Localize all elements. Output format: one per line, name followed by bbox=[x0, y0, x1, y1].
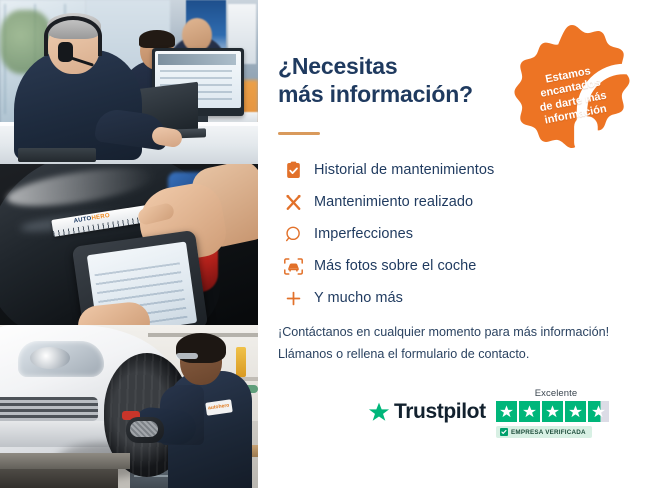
feature-label: Historial de mantenimientos bbox=[308, 163, 494, 178]
star-rating bbox=[496, 401, 616, 422]
photo-strip: AUTOHERO autohero bbox=[0, 0, 258, 488]
page-title: ¿Necesitas más información? bbox=[278, 52, 528, 109]
clipboard-check-icon bbox=[278, 157, 308, 183]
feature-label: Más fotos sobre el coche bbox=[308, 259, 476, 274]
trustpilot-wordmark: Trustpilot bbox=[394, 400, 486, 424]
check-icon bbox=[500, 428, 508, 436]
promo-card: AUTOHERO autohero bbox=[0, 0, 650, 488]
star-filled bbox=[519, 401, 540, 422]
trustpilot-rating: Excelente bbox=[496, 388, 616, 440]
feature-item-more-photos: Más fotos sobre el coche bbox=[278, 250, 638, 282]
star-filled bbox=[496, 401, 517, 422]
title-accent-rule bbox=[278, 132, 320, 135]
page-title-line-2: más información? bbox=[278, 80, 528, 108]
star-filled bbox=[565, 401, 586, 422]
help-badge: Estamos encantados de darte más informac… bbox=[509, 22, 635, 148]
verified-business-label: EMPRESA VERIFICADA bbox=[511, 429, 586, 436]
trustpilot-star-icon bbox=[368, 401, 390, 423]
feature-item-much-more: Y mucho más bbox=[278, 282, 638, 314]
feature-item-imperfections: Imperfecciones bbox=[278, 218, 638, 250]
car-scan-icon bbox=[278, 253, 308, 279]
magnifier-icon bbox=[278, 221, 308, 247]
star-filled bbox=[542, 401, 563, 422]
tools-cross-icon bbox=[278, 189, 308, 215]
feature-list: Historial de mantenimientos Mantenimient… bbox=[278, 154, 638, 314]
mechanic-wheel-inspection-photo: autohero bbox=[0, 325, 258, 488]
star-partial bbox=[588, 401, 609, 422]
contact-paragraph: ¡Contáctanos en cualquier momento para m… bbox=[278, 322, 633, 365]
contact-paragraph-line-1: ¡Contáctanos en cualquier momento para m… bbox=[278, 322, 633, 344]
call-center-agents-photo bbox=[0, 0, 258, 164]
contact-paragraph-line-2: Llámanos o rellena el formulario de cont… bbox=[278, 344, 633, 366]
feature-item-maintenance-done: Mantenimiento realizado bbox=[278, 186, 638, 218]
rating-label: Excelente bbox=[496, 388, 616, 399]
vehicle-inspection-ruler-tablet-photo: AUTOHERO bbox=[0, 164, 258, 325]
page-title-line-1: ¿Necesitas bbox=[278, 53, 397, 79]
feature-label: Y mucho más bbox=[308, 291, 403, 306]
feature-label: Mantenimiento realizado bbox=[308, 195, 473, 210]
trustpilot-block: Trustpilot Excelente bbox=[368, 388, 638, 450]
feature-item-maintenance-history: Historial de mantenimientos bbox=[278, 154, 638, 186]
verified-business-badge: EMPRESA VERIFICADA bbox=[496, 426, 592, 438]
content-panel: ¿Necesitas más información? Estamos enca… bbox=[258, 0, 650, 488]
trustpilot-logo: Trustpilot bbox=[368, 400, 486, 424]
feature-label: Imperfecciones bbox=[308, 227, 413, 242]
plus-icon bbox=[278, 285, 308, 311]
